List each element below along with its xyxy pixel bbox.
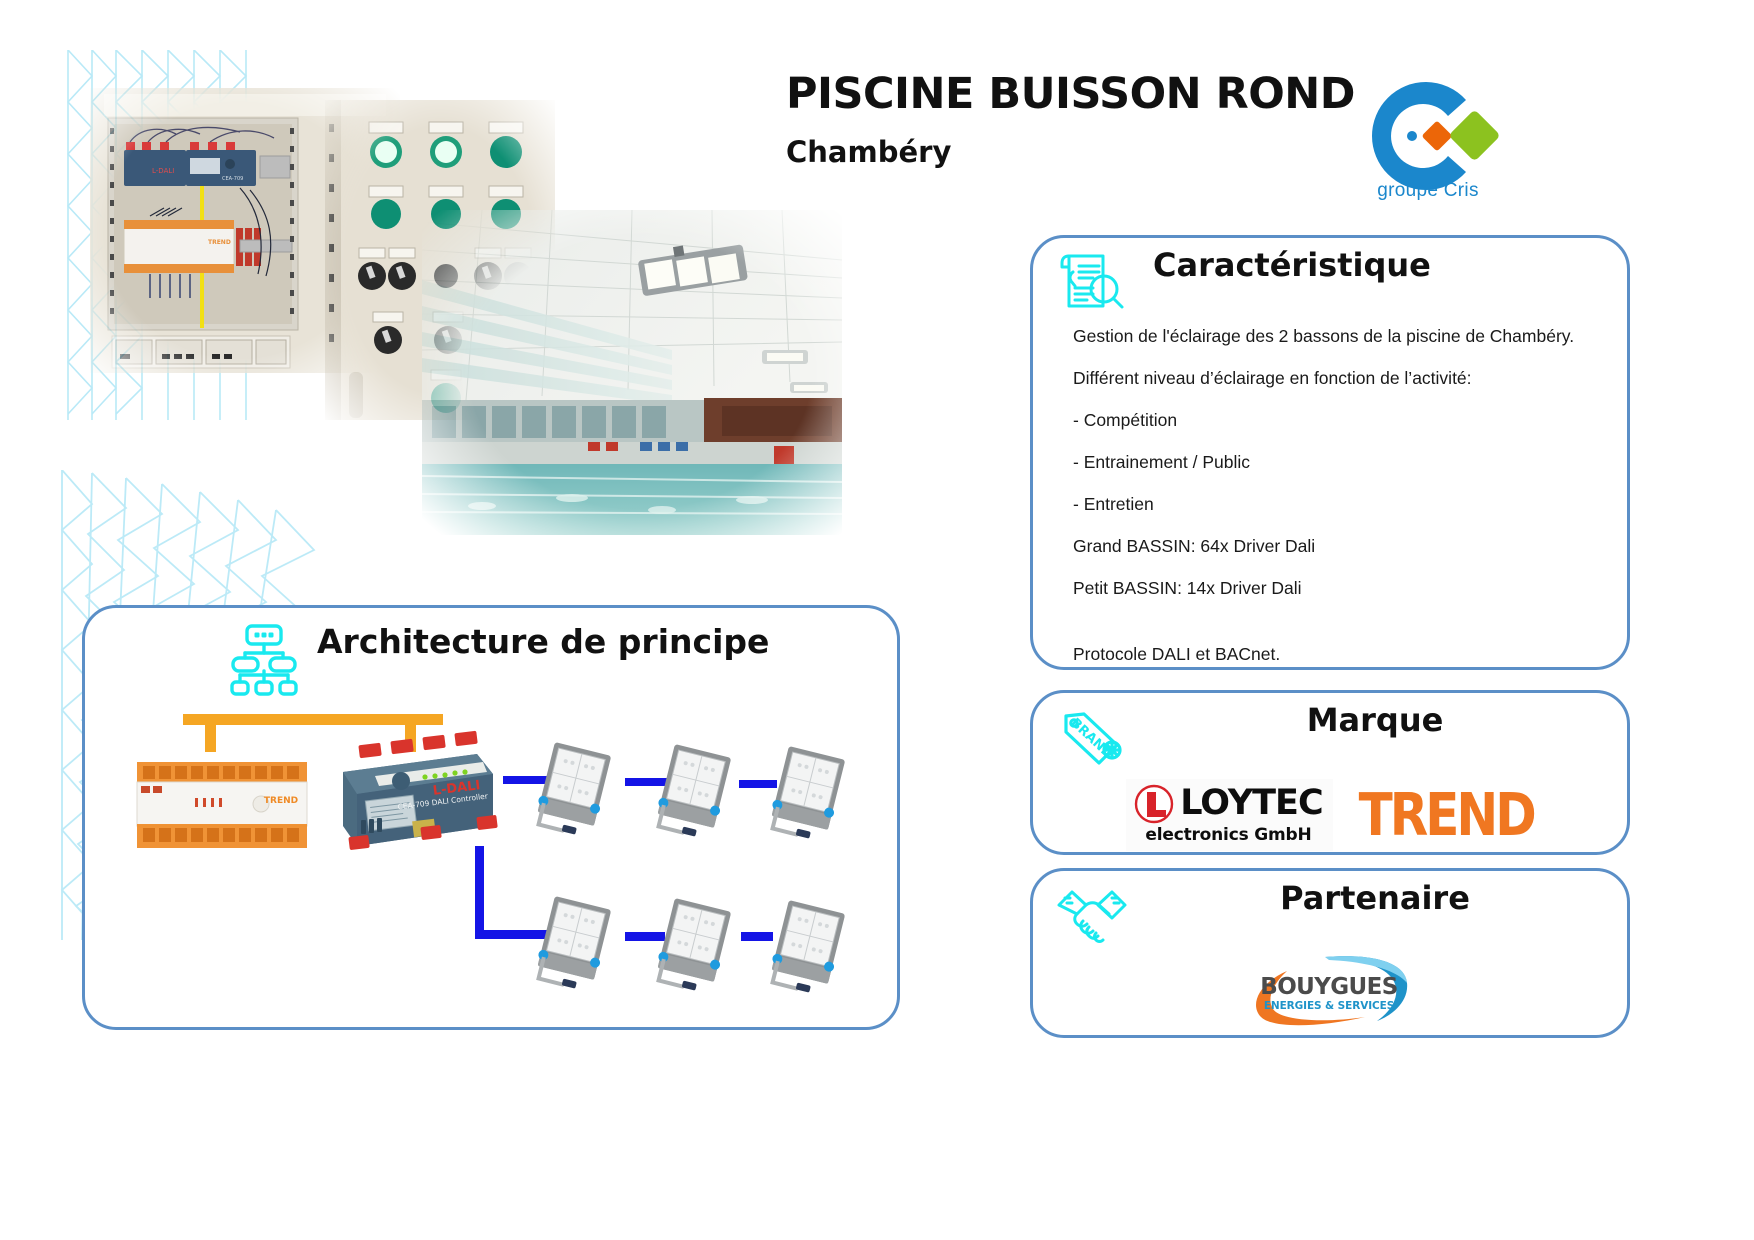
bouygues-logo: BOUYGUES ENERGIES & SERVICES: [1033, 949, 1627, 1029]
page-title: PISCINE BUISSON ROND: [786, 72, 1406, 117]
marque-logos: LOYTEC electronics GmbH TREND: [1033, 779, 1627, 851]
dali-bus-bottom: [475, 846, 773, 941]
network-hierarchy-icon: [225, 620, 303, 698]
svg-text:TREND: TREND: [208, 239, 231, 246]
caracteristique-body: Gestion de l'éclairage des 2 bassons de …: [1073, 326, 1609, 686]
architecture-title: Architecture de principe: [317, 622, 769, 661]
document-magnifier-icon: [1055, 244, 1129, 318]
panel-caracteristique: Caractéristique Gestion de l'éclairage d…: [1030, 235, 1630, 670]
page-subtitle: Chambéry: [786, 135, 1406, 169]
carac-line: Protocole DALI et BACnet.: [1073, 644, 1609, 665]
carac-line: - Entretien: [1073, 494, 1609, 515]
carac-line: - Entrainement / Public: [1073, 452, 1609, 473]
trend-controller-device: TREND: [137, 762, 307, 848]
floodlight: [766, 900, 847, 997]
carac-line-blank: [1073, 620, 1609, 630]
svg-text:L-DALI: L-DALI: [152, 167, 174, 175]
floodlight: [652, 744, 733, 841]
ldali-controller-device: L-DALI CEA-709 DALI Controller: [343, 731, 498, 850]
loytec-logo: LOYTEC electronics GmbH: [1126, 779, 1332, 851]
caracteristique-header: Caractéristique: [1033, 238, 1627, 316]
poster-page: L-DALI CEA-709 TREND: [0, 0, 1754, 1240]
photo-collage: L-DALI CEA-709 TREND: [70, 70, 770, 470]
architecture-svg: TREND: [85, 698, 903, 1028]
carac-line: - Compétition: [1073, 410, 1609, 431]
header: PISCINE BUISSON ROND Chambéry: [786, 72, 1406, 169]
loytec-l-mark-icon: [1134, 784, 1174, 824]
panel-marque: BRAND Marque LOYTEC electronics GmbH TRE…: [1030, 690, 1630, 855]
carac-line: Différent niveau d’éclairage en fonction…: [1073, 368, 1609, 389]
floodlight: [532, 742, 613, 839]
architecture-diagram: TREND: [85, 698, 903, 1028]
floodlight: [766, 746, 847, 843]
floodlight-row-bottom: [532, 896, 847, 997]
trend-device-label: TREND: [264, 796, 298, 806]
bouygues-subtitle: ENERGIES & SERVICES: [1264, 1000, 1394, 1012]
caracteristique-title: Caractéristique: [1153, 246, 1617, 284]
panel-partenaire: Partenaire BOUYGUES ENERGIES & SERVICES: [1030, 868, 1630, 1038]
panel-architecture: Architecture de principe: [82, 605, 900, 1030]
marque-header: BRAND Marque: [1033, 693, 1627, 771]
partenaire-title: Partenaire: [1143, 879, 1607, 917]
trend-logo: TREND: [1359, 788, 1534, 841]
swimming-pool-interior-photo: [422, 210, 842, 535]
svg-text:CEA-709: CEA-709: [222, 176, 243, 182]
carac-line: Grand BASSIN: 64x Driver Dali: [1073, 536, 1609, 557]
carac-line: Gestion de l'éclairage des 2 bassons de …: [1073, 326, 1609, 347]
floodlight: [652, 898, 733, 995]
handshake-icon: [1055, 877, 1129, 951]
partenaire-header: Partenaire: [1033, 871, 1627, 949]
floodlight-row-top: [532, 742, 847, 843]
brand-tag-icon: BRAND: [1055, 699, 1129, 773]
carac-line: Petit BASSIN: 14x Driver Dali: [1073, 578, 1609, 599]
marque-title: Marque: [1143, 701, 1607, 739]
groupe-cris-logo-label: groupe Cris: [1348, 180, 1508, 202]
loytec-wordmark: LOYTEC: [1180, 787, 1322, 820]
floodlight: [532, 896, 613, 993]
loytec-subtitle: electronics GmbH: [1145, 825, 1311, 845]
bouygues-wordmark: BOUYGUES: [1260, 974, 1397, 1000]
